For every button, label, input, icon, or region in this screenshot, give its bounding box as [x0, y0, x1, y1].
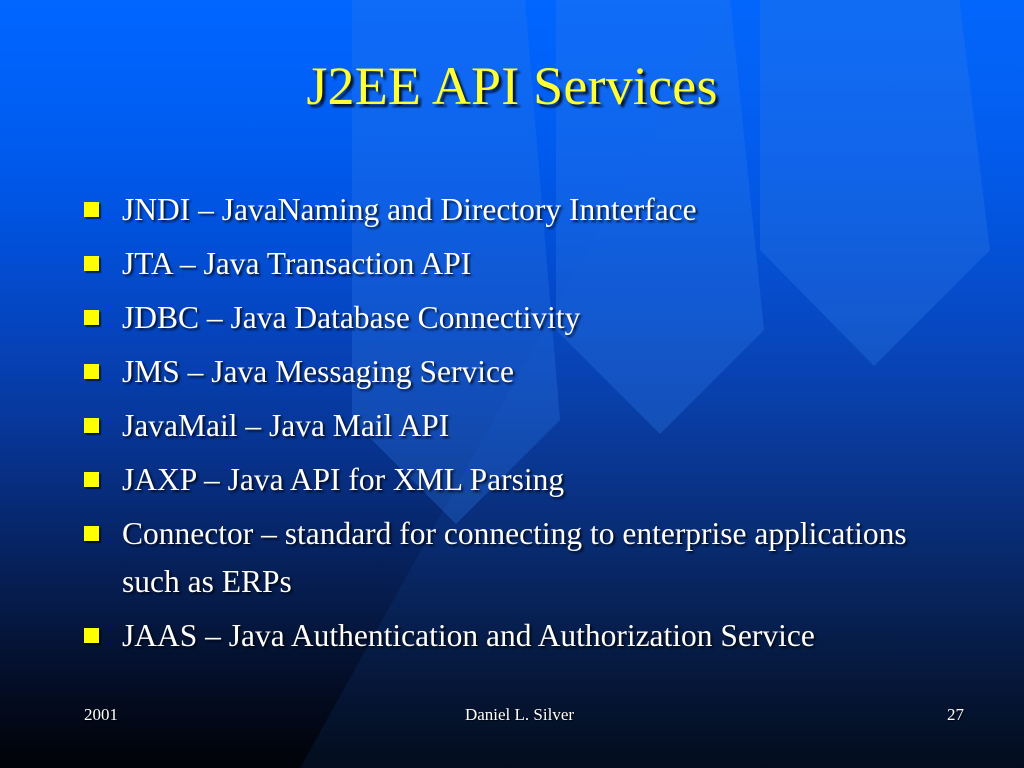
square-bullet-icon	[84, 310, 99, 325]
list-item-label: JDBC – Java Database Connectivity	[122, 294, 964, 342]
list-item: JavaMail – Java Mail API	[84, 402, 964, 450]
square-bullet-icon	[84, 202, 99, 217]
list-item-label: JAXP – Java API for XML Parsing	[122, 456, 964, 504]
list-item: JAAS – Java Authentication and Authoriza…	[84, 612, 964, 660]
list-item: Connector – standard for connecting to e…	[84, 510, 964, 606]
slide-footer: 2001 Daniel L. Silver 27	[84, 703, 964, 727]
footer-author: Daniel L. Silver	[118, 705, 947, 725]
square-bullet-icon	[84, 472, 99, 487]
list-item: JAXP – Java API for XML Parsing	[84, 456, 964, 504]
footer-slide-number: 27	[947, 705, 964, 725]
square-bullet-icon	[84, 628, 99, 643]
presentation-slide: J2EE API Services JNDI – JavaNaming and …	[0, 0, 1024, 768]
list-item: JTA – Java Transaction API	[84, 240, 964, 288]
slide-title: J2EE API Services	[0, 58, 1024, 115]
square-bullet-icon	[84, 364, 99, 379]
square-bullet-icon	[84, 256, 99, 271]
list-item-label: JavaMail – Java Mail API	[122, 402, 964, 450]
list-item: JNDI – JavaNaming and Directory Innterfa…	[84, 186, 964, 234]
list-item-label: Connector – standard for connecting to e…	[122, 510, 934, 606]
bullet-list: JNDI – JavaNaming and Directory Innterfa…	[84, 186, 964, 666]
list-item: JDBC – Java Database Connectivity	[84, 294, 964, 342]
list-item-label: JMS – Java Messaging Service	[122, 348, 964, 396]
list-item-label: JTA – Java Transaction API	[122, 240, 964, 288]
square-bullet-icon	[84, 418, 99, 433]
square-bullet-icon	[84, 526, 99, 541]
list-item: JMS – Java Messaging Service	[84, 348, 964, 396]
list-item-label: JNDI – JavaNaming and Directory Innterfa…	[122, 186, 964, 234]
footer-year: 2001	[84, 705, 118, 725]
list-item-label: JAAS – Java Authentication and Authoriza…	[122, 612, 934, 660]
